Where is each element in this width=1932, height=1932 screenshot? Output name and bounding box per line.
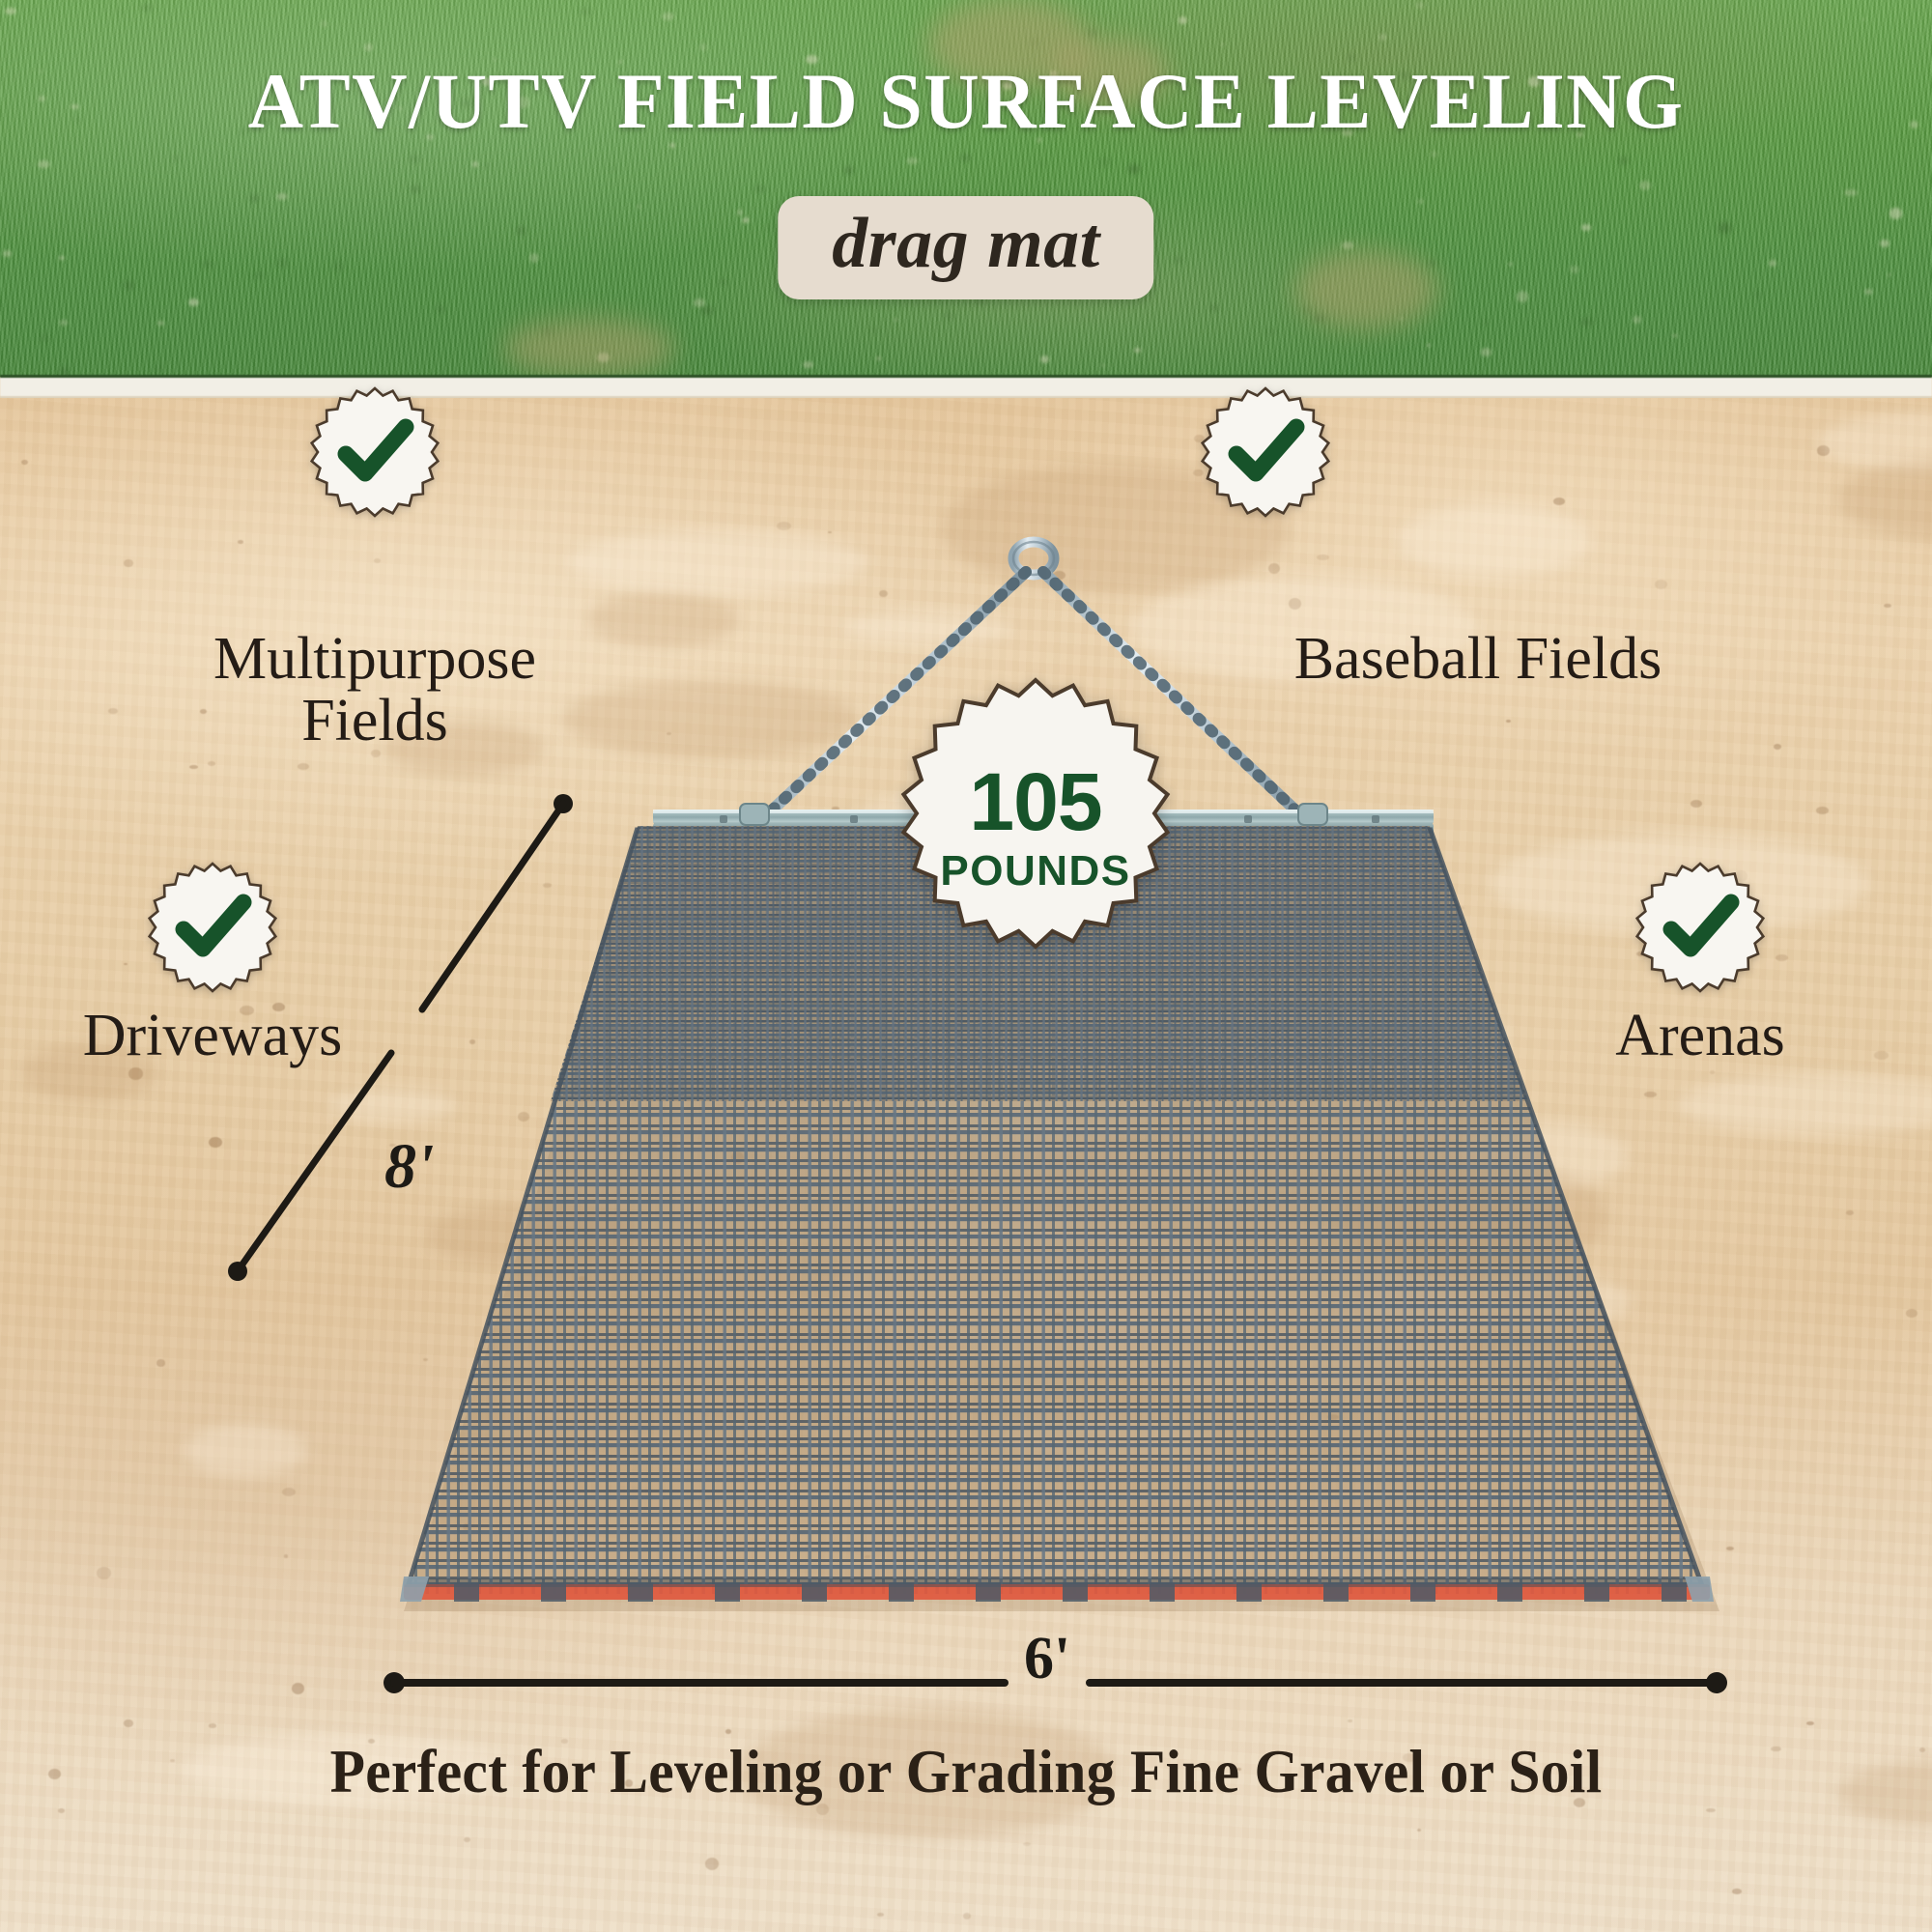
product-name-chip: drag mat: [778, 196, 1153, 299]
infographic-canvas: ATV/UTV FIELD SURFACE LEVELING drag mat: [0, 0, 1932, 1932]
product-name-label: drag mat: [832, 208, 1099, 280]
check-icon: [1198, 384, 1333, 520]
check-badge-arenas: [1633, 860, 1768, 995]
feature-label-arenas: Arenas: [1507, 1005, 1893, 1066]
check-badge-multipurpose-fields: [307, 384, 442, 520]
chalk-line: [0, 375, 1932, 400]
weight-unit: POUNDS: [898, 850, 1173, 893]
weight-badge: 105 POUNDS: [898, 676, 1173, 951]
check-icon: [1633, 860, 1768, 995]
dimension-height-label: 8': [384, 1135, 434, 1199]
weight-value: 105: [898, 761, 1173, 842]
dimension-width-label: 6': [1024, 1629, 1070, 1689]
feature-label-multipurpose-fields: Multipurpose Fields: [182, 628, 568, 753]
footer-tagline: Perfect for Leveling or Grading Fine Gra…: [68, 1736, 1864, 1807]
feature-label-baseball-fields: Baseball Fields: [1150, 628, 1806, 690]
check-icon: [307, 384, 442, 520]
check-badge-driveways: [145, 860, 280, 995]
check-icon: [145, 860, 280, 995]
check-badge-baseball-fields: [1198, 384, 1333, 520]
page-title: ATV/UTV FIELD SURFACE LEVELING: [29, 56, 1903, 147]
feature-label-driveways: Driveways: [0, 1005, 444, 1066]
